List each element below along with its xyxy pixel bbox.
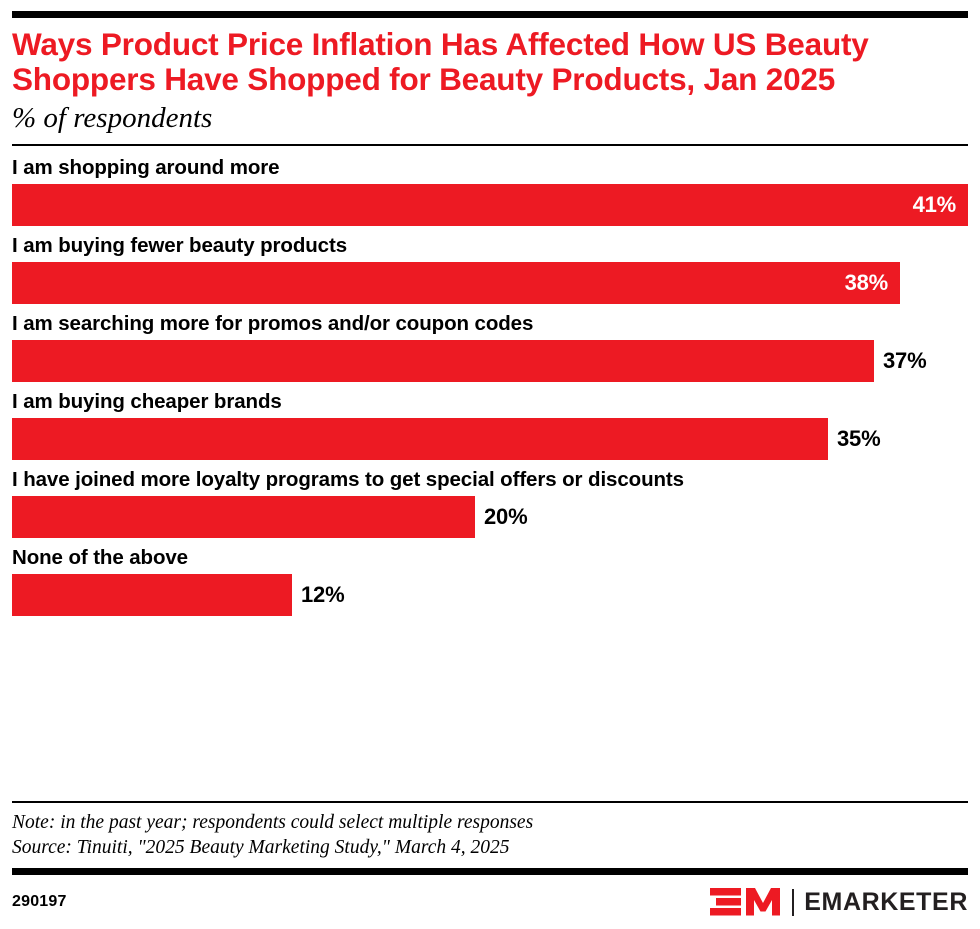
bar-segment [12,574,292,616]
bar-value-label: 20% [475,504,527,530]
bar-segment: 41% [12,184,968,226]
bar-category-label: I am buying fewer beauty products [12,234,968,258]
bar-value-label: 41% [913,192,968,218]
bar-segment [12,340,874,382]
bar-category-label: I am searching more for promos and/or co… [12,312,968,336]
bar-row: 37% [12,340,968,382]
bar-segment [12,418,828,460]
top-rule [12,11,968,18]
bar-row: 41% [12,184,968,226]
bar-group: I have joined more loyalty programs to g… [12,468,968,538]
bar-group: None of the above 12% [12,546,968,616]
chart-footer: Note: in the past year; respondents coul… [12,801,968,929]
chart-header: Ways Product Price Inflation Has Affecte… [12,18,968,135]
bar-value-label: 35% [828,426,880,452]
bar-segment: 38% [12,262,900,304]
bar-category-label: I have joined more loyalty programs to g… [12,468,968,492]
bar-group: I am buying fewer beauty products 38% [12,234,968,304]
bar-group: I am searching more for promos and/or co… [12,312,968,382]
credit-bar: 290197 EMARKETER [12,875,968,929]
bar-row: 38% [12,262,968,304]
chart-id: 290197 [12,893,67,911]
source-text: Source: Tinuiti, "2025 Beauty Marketing … [12,835,968,860]
bar-row: 20% [12,496,968,538]
bar-chart-plot-area: I am shopping around more 41% I am buyin… [12,146,968,616]
bar-row: 35% [12,418,968,460]
bar-group: I am shopping around more 41% [12,156,968,226]
bar-value-label: 37% [874,348,926,374]
bar-group: I am buying cheaper brands 35% [12,390,968,460]
note-text: Note: in the past year; respondents coul… [12,810,968,835]
bar-value-label: 12% [292,582,344,608]
emarketer-logo: EMARKETER [710,886,968,918]
logo-divider [792,889,794,916]
bar-category-label: I am buying cheaper brands [12,390,968,414]
chart-subtitle: % of respondents [12,101,968,135]
chart-card: Ways Product Price Inflation Has Affecte… [0,11,980,929]
bar-segment [12,496,475,538]
bar-category-label: None of the above [12,546,968,570]
bar-category-label: I am shopping around more [12,156,968,180]
footer-bottom-rule [12,868,968,875]
bar-row: 12% [12,574,968,616]
bar-value-label: 38% [845,270,900,296]
chart-title: Ways Product Price Inflation Has Affecte… [12,27,962,97]
footnotes: Note: in the past year; respondents coul… [12,803,968,868]
brand-wordmark: EMARKETER [804,888,968,917]
em-monogram-icon [710,886,782,918]
